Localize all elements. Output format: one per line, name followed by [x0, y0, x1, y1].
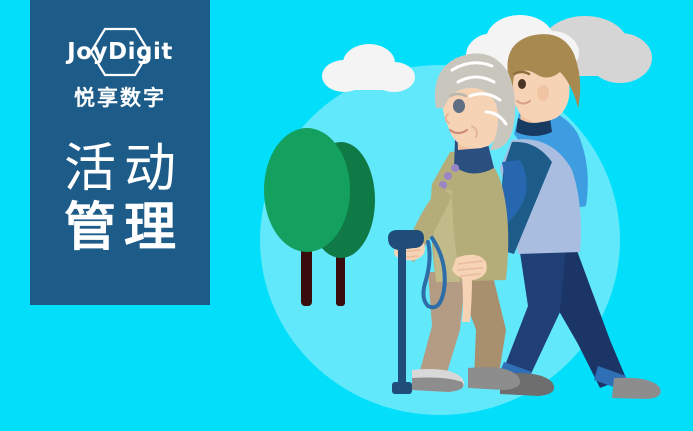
logo-mark: JoyDigit	[45, 26, 195, 78]
logo-block: JoyDigit 悦享数字	[45, 26, 195, 122]
headline-line-2: 管理	[56, 199, 184, 258]
brand-panel: JoyDigit 悦享数字 活动 管理	[30, 0, 210, 305]
man-ear	[537, 85, 549, 101]
elder-bead	[451, 164, 459, 172]
elder-bead	[444, 172, 452, 180]
headline-line-1: 活动	[56, 140, 184, 199]
poster-canvas: JoyDigit 悦享数字 活动 管理	[0, 0, 693, 431]
cane-tip	[392, 382, 412, 394]
elder-forearm-down	[462, 278, 472, 322]
logo-wordmark: JoyDigit	[67, 41, 173, 64]
elder-eye	[453, 99, 465, 113]
logo-chinese-name: 悦享数字	[74, 88, 166, 109]
man-eye	[518, 79, 526, 89]
cane-handle	[388, 230, 424, 250]
headline: 活动 管理	[30, 140, 210, 259]
cane-shaft	[398, 248, 406, 390]
